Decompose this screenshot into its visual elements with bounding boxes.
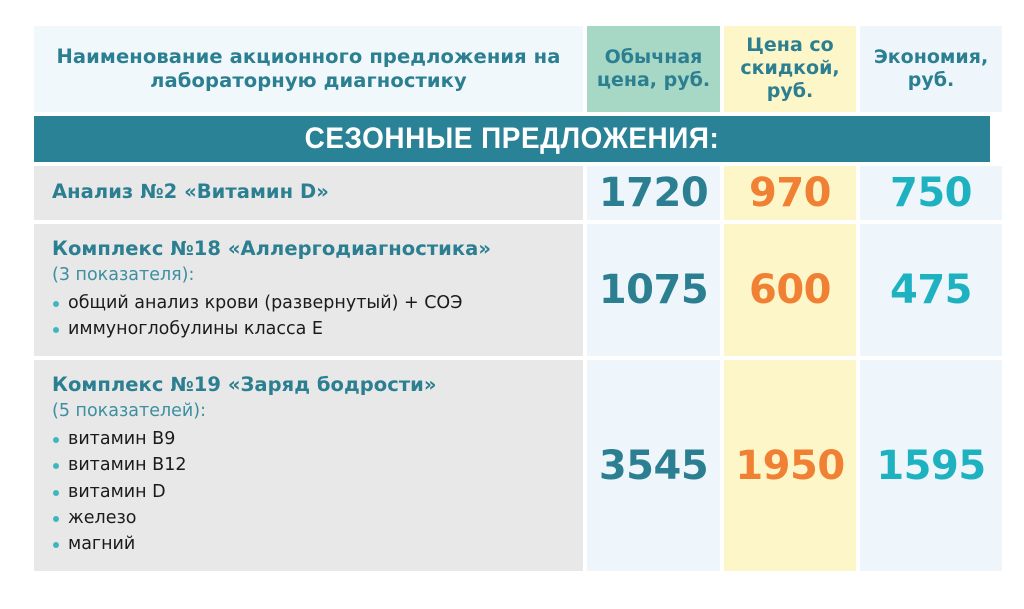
list-item: общий анализ крови (развернутый) + СОЭ [52,290,565,316]
section-banner-label: СЕЗОННЫЕ ПРЕДЛОЖЕНИЯ: [305,122,720,156]
table-row: Комплекс №19 «Заряд бодрости» (5 показат… [34,360,990,571]
offer-title: Комплекс №19 «Заряд бодрости» [52,373,565,397]
list-item: витамин В12 [52,452,565,478]
offer-description-cell: Комплекс №18 «Аллергодиагностика» (3 пок… [34,224,583,357]
offer-savings: 750 [860,166,1002,220]
price-table-sheet: Наименование акционного предложения на л… [0,0,1024,609]
list-item: витамин В9 [52,426,565,452]
offer-discount-price: 600 [724,224,856,357]
list-item: витамин D [52,479,565,505]
offer-title: Комплекс №18 «Аллергодиагностика» [52,237,565,261]
offer-parameter-count: (3 показателя): [52,264,565,288]
offer-description-cell: Анализ №2 «Витамин D» [34,166,583,220]
offer-discount-price: 970 [724,166,856,220]
offer-regular-price: 1720 [587,166,720,220]
offer-regular-price: 1075 [587,224,720,357]
column-header-regular-price: Обычная цена, руб. [587,26,720,112]
column-header-discount-price: Цена со скидкой, руб. [724,26,856,112]
list-item: магний [52,531,565,557]
list-item: иммуноглобулины класса Е [52,316,565,342]
column-header-savings: Экономия, руб. [860,26,1002,112]
offer-regular-price: 3545 [587,360,720,571]
table-row: Анализ №2 «Витамин D» 1720 970 750 [34,166,990,220]
offer-included-list: витамин В9 витамин В12 витамин D железо … [52,426,565,557]
column-header-offer-name: Наименование акционного предложения на л… [34,26,583,112]
offer-parameter-count: (5 показателей): [52,400,565,424]
offer-title: Анализ №2 «Витамин D» [52,180,565,204]
offer-savings: 475 [860,224,1002,357]
offer-savings: 1595 [860,360,1002,571]
table-header-row: Наименование акционного предложения на л… [34,26,990,112]
offer-included-list: общий анализ крови (развернутый) + СОЭ и… [52,290,565,343]
section-banner-seasonal-offers: СЕЗОННЫЕ ПРЕДЛОЖЕНИЯ: [34,116,990,162]
offer-discount-price: 1950 [724,360,856,571]
table-row: Комплекс №18 «Аллергодиагностика» (3 пок… [34,224,990,357]
list-item: железо [52,505,565,531]
offer-description-cell: Комплекс №19 «Заряд бодрости» (5 показат… [34,360,583,571]
